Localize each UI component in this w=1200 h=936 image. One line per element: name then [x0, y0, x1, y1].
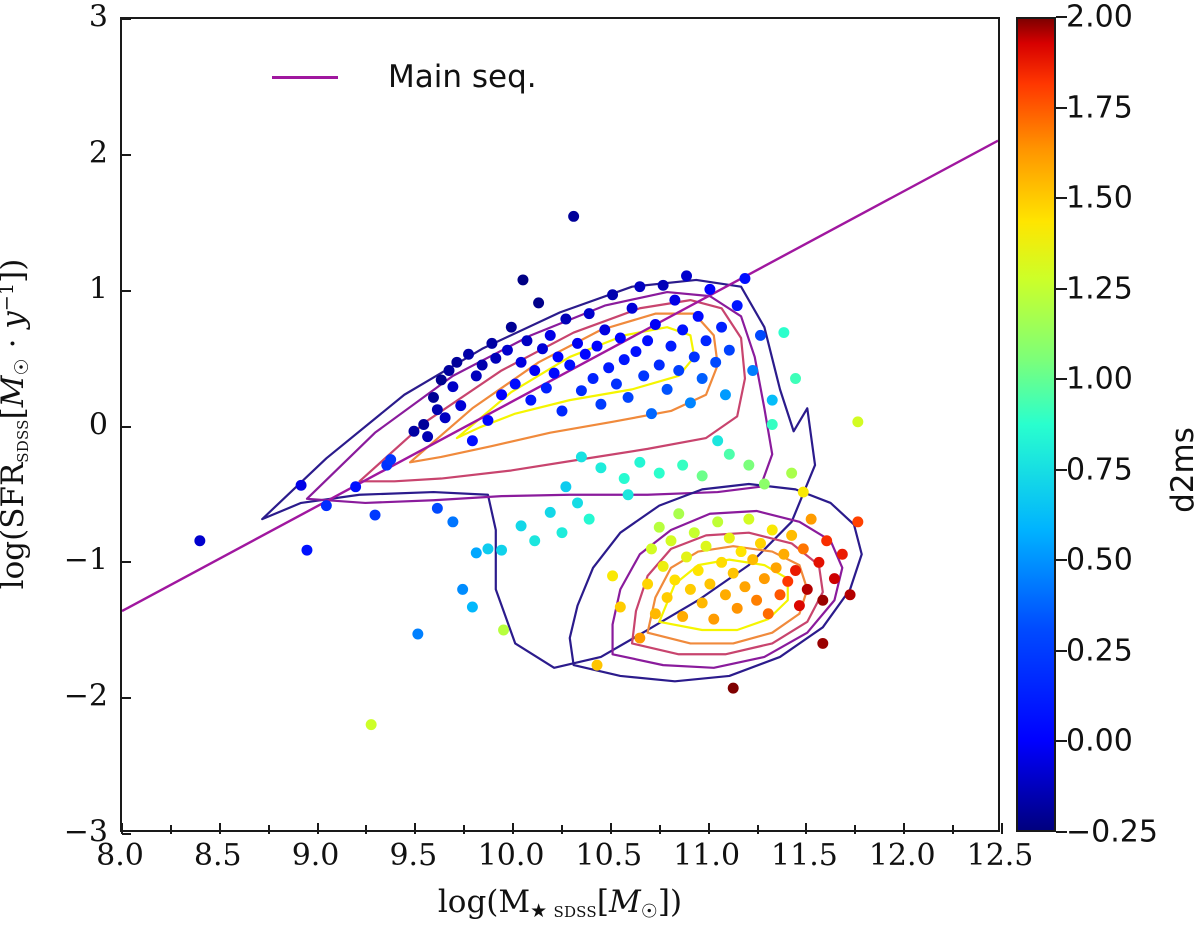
scatter-point — [654, 468, 665, 479]
scatter-point — [627, 303, 638, 314]
scatter-point — [510, 379, 521, 390]
scatter-point — [755, 538, 766, 549]
scatter-point — [654, 360, 665, 371]
scatter-point — [669, 574, 680, 585]
scatter-point — [685, 397, 696, 408]
x-tick — [1001, 823, 1003, 834]
scatter-point — [767, 395, 778, 406]
scatter-point — [490, 353, 501, 364]
scatter-point — [576, 385, 587, 396]
colorbar-container — [1016, 17, 1056, 832]
scatter-point — [301, 545, 312, 556]
scatter-point — [457, 584, 468, 595]
y-axis-label: log(SFRSDSS[M☉ · y−1]) — [0, 259, 33, 590]
y-tick — [122, 154, 131, 156]
x-tick-label: 12.5 — [967, 838, 1034, 873]
scatter-point — [553, 351, 564, 362]
scatter-point — [529, 365, 540, 376]
scatter-point — [549, 368, 560, 379]
scatter-point — [724, 449, 735, 460]
scatter-point — [778, 549, 789, 560]
scatter-point — [296, 480, 307, 491]
scatter-point — [623, 392, 634, 403]
y-tick-label: −2 — [64, 679, 108, 714]
scatter-point — [693, 311, 704, 322]
scatter-point — [506, 322, 517, 333]
scatter-point — [584, 514, 595, 525]
colorbar-label: d2ms — [1165, 427, 1200, 513]
scatter-point — [321, 500, 332, 511]
scatter-point — [685, 584, 696, 595]
scatter-point — [496, 545, 507, 556]
x-tick-label: 11.5 — [771, 838, 838, 873]
scatter-point — [477, 360, 488, 371]
scatter-point — [350, 481, 361, 492]
scatter-point — [747, 554, 758, 565]
scatter-point — [557, 405, 568, 416]
scatter-point — [568, 211, 579, 222]
scatter-point — [471, 547, 482, 558]
scatter-point — [794, 600, 805, 611]
scatter-point — [728, 568, 739, 579]
scatter-point — [743, 514, 754, 525]
scatter-point — [584, 308, 595, 319]
scatter-point — [790, 373, 801, 384]
scatter-point — [662, 384, 673, 395]
scatter-point — [482, 543, 493, 554]
scatter-point — [720, 589, 731, 600]
scatter-point — [619, 473, 630, 484]
x-tick-minor — [170, 825, 172, 834]
legend: Main seq. — [272, 59, 537, 95]
x-tick-label: 11.0 — [673, 838, 740, 873]
scatter-point — [739, 273, 750, 284]
scatter-point — [580, 349, 591, 360]
scatter-point — [798, 543, 809, 554]
scatter-point — [798, 487, 809, 498]
scatter-point — [767, 525, 778, 536]
scatter-point — [525, 395, 536, 406]
scatter-point — [451, 357, 462, 368]
scatter-point — [712, 516, 723, 527]
colorbar-gradient — [1016, 17, 1056, 832]
scatter-point — [697, 597, 708, 608]
scatter-point — [467, 602, 478, 613]
scatter-point — [541, 383, 552, 394]
scatter-point — [444, 365, 455, 376]
y-tick — [122, 18, 131, 20]
x-tick-minor — [268, 825, 270, 834]
x-tick-label: 10.5 — [575, 838, 642, 873]
scatter-point — [658, 561, 669, 572]
scatter-point — [852, 416, 863, 427]
scatter-point — [658, 280, 669, 291]
scatter-point — [642, 579, 653, 590]
scatter-point — [669, 295, 680, 306]
scatter-point — [607, 289, 618, 300]
scatter-point — [521, 335, 532, 346]
y-tick — [122, 561, 131, 563]
scatter-point — [710, 357, 721, 368]
scatter-point — [755, 330, 766, 341]
colorbar-tick-label: 0.50 — [1066, 543, 1133, 578]
scatter-point — [412, 628, 423, 639]
scatter-point — [432, 503, 443, 514]
scatter-point — [502, 345, 513, 356]
scatter-point — [455, 400, 466, 411]
scatter-point — [545, 330, 556, 341]
scatter-point — [666, 535, 677, 546]
scatter-point — [817, 638, 828, 649]
scatter-point — [759, 479, 770, 490]
scatter-point — [642, 335, 653, 346]
scatter-point — [486, 338, 497, 349]
colorbar-tick-label: 0.00 — [1066, 724, 1133, 759]
scatter-point — [615, 602, 626, 613]
x-tick — [317, 823, 319, 834]
scatter-point — [724, 533, 735, 544]
scatter-point — [802, 584, 813, 595]
scatter-point — [545, 507, 556, 518]
scatter-point — [440, 412, 451, 423]
scatter-point — [654, 522, 665, 533]
scatter-point — [422, 431, 433, 442]
scatter-point — [366, 719, 377, 730]
main-sequence-line — [122, 141, 998, 611]
scatter-point — [739, 581, 750, 592]
scatter-point — [498, 625, 509, 636]
scatter-point — [662, 592, 673, 603]
scatter-point — [607, 570, 618, 581]
main-sequence-line-layer — [122, 141, 998, 611]
scatter-point — [701, 335, 712, 346]
scatter-point — [673, 508, 684, 519]
scatter-point — [592, 660, 603, 671]
legend-line-swatch — [272, 76, 338, 79]
scatter-point — [673, 365, 684, 376]
y-tick-label: 0 — [89, 407, 108, 442]
scatter-point — [775, 589, 786, 600]
x-tick-minor — [952, 825, 954, 834]
scatter-point — [537, 343, 548, 354]
scatter-point — [611, 379, 622, 390]
colorbar-tick-label: 1.00 — [1066, 362, 1133, 397]
scatter-point — [716, 322, 727, 333]
scatter-point — [813, 557, 824, 568]
y-tick — [122, 426, 131, 428]
scatter-point — [194, 535, 205, 546]
scatter-point — [845, 589, 856, 600]
x-tick — [903, 823, 905, 834]
scatter-point — [572, 497, 583, 508]
scatter-point — [615, 333, 626, 344]
scatter-point — [697, 373, 708, 384]
plot-canvas — [122, 19, 998, 830]
y-tick — [122, 833, 131, 835]
scatter-point — [564, 360, 575, 371]
scatter-point — [708, 614, 719, 625]
y-tick — [122, 290, 131, 292]
scatter-point — [767, 419, 778, 430]
scatter-point — [603, 362, 614, 373]
x-tick — [610, 823, 612, 834]
scatter-point — [782, 576, 793, 587]
scatter-point — [720, 389, 731, 400]
scatter-point — [447, 381, 458, 392]
scatter-point — [693, 565, 704, 576]
scatter-point — [704, 284, 715, 295]
scatter-point — [529, 535, 540, 546]
x-tick — [414, 823, 416, 834]
scatter-point — [650, 319, 661, 330]
scatter-point — [728, 683, 739, 694]
scatter-point — [619, 354, 630, 365]
contour-layer — [262, 280, 862, 681]
scatter-point — [557, 527, 568, 538]
scatter-point — [817, 595, 828, 606]
y-tick-label: 1 — [89, 271, 108, 306]
scatter-point — [576, 451, 587, 462]
scatter-point — [716, 557, 727, 568]
scatter-point — [634, 633, 645, 644]
colorbar-tick-label: 0.75 — [1066, 452, 1133, 487]
scatter-point — [666, 341, 677, 352]
scatter-point — [681, 551, 692, 562]
colorbar-tick-label: 1.25 — [1066, 271, 1133, 306]
plot-area: Main seq. — [120, 17, 1000, 832]
x-tick-minor — [561, 825, 563, 834]
scatter-point — [592, 341, 603, 352]
scatter-point — [463, 349, 474, 360]
x-tick-minor — [757, 825, 759, 834]
y-tick-label: 2 — [89, 135, 108, 170]
scatter-point — [588, 373, 599, 384]
x-tick-label: 12.0 — [869, 838, 936, 873]
scatter-point — [560, 314, 571, 325]
scatter-point — [837, 549, 848, 560]
y-tick-label: −1 — [64, 543, 108, 578]
scatter-point — [560, 481, 571, 492]
scatter-point — [650, 608, 661, 619]
scatter-point — [763, 608, 774, 619]
scatter-point — [428, 392, 439, 403]
colorbar-tick-label: 1.50 — [1066, 181, 1133, 216]
y-tick-label: 3 — [89, 0, 108, 35]
scatter-point — [595, 399, 606, 410]
scatter-point — [623, 489, 634, 500]
scatter-point — [467, 435, 478, 446]
scatter-point — [533, 297, 544, 308]
scatter-point — [732, 300, 743, 311]
scatter-point — [638, 370, 649, 381]
x-tick-minor — [365, 825, 367, 834]
scatter-point — [471, 370, 482, 381]
scatter-point — [759, 573, 770, 584]
scatter-point — [370, 510, 381, 521]
scatter-point — [732, 603, 743, 614]
scatter-point — [829, 573, 840, 584]
scatter-point — [852, 516, 863, 527]
scatter-point — [743, 460, 754, 471]
scatter-point — [646, 543, 657, 554]
scatter-point — [516, 357, 527, 368]
scatter-point — [516, 520, 527, 531]
scatter-point — [447, 516, 458, 527]
x-tick-label: 10.0 — [478, 838, 545, 873]
x-axis-label: log(M★ SDSS[M☉]) — [438, 884, 682, 922]
scatter-point — [701, 541, 712, 552]
x-tick-minor — [659, 825, 661, 834]
colorbar-tick-label: 2.00 — [1066, 0, 1133, 35]
scatter-point — [771, 562, 782, 573]
scatter-point — [689, 527, 700, 538]
scatter-point — [778, 327, 789, 338]
scatter-point — [806, 514, 817, 525]
scatter-point — [630, 346, 641, 357]
scatter-point — [751, 595, 762, 606]
colorbar-tick-label: 1.75 — [1066, 90, 1133, 125]
scatter-point — [572, 338, 583, 349]
y-tick-label: −3 — [64, 815, 108, 850]
colorbar-tick-label: 0.25 — [1066, 633, 1133, 668]
figure-root: Main seq. 8.08.59.09.510.010.511.011.512… — [0, 0, 1200, 936]
scatter-point — [677, 460, 688, 471]
scatter-point — [790, 565, 801, 576]
scatter-point — [634, 281, 645, 292]
scatter-point — [385, 454, 396, 465]
scatter-point — [677, 611, 688, 622]
scatter-point — [681, 270, 692, 281]
x-tick-minor — [463, 825, 465, 834]
scatter-point — [704, 579, 715, 590]
scatter-point — [595, 462, 606, 473]
scatter-point — [747, 365, 758, 376]
x-tick-label: 9.0 — [292, 838, 340, 873]
scatter-point — [821, 535, 832, 546]
scatter-point — [646, 408, 657, 419]
scatter-point — [418, 419, 429, 430]
scatter-point — [689, 351, 700, 362]
x-tick-minor — [854, 825, 856, 834]
scatter-point — [436, 374, 447, 385]
scatter-point — [712, 435, 723, 446]
legend-label: Main seq. — [388, 59, 537, 95]
scatter-point — [677, 324, 688, 335]
scatter-point — [599, 324, 610, 335]
scatter-point — [697, 470, 708, 481]
scatter-point — [786, 468, 797, 479]
scatter-point — [408, 426, 419, 437]
scatter-point — [786, 530, 797, 541]
x-tick-label: 9.5 — [389, 838, 437, 873]
x-tick — [512, 823, 514, 834]
x-tick — [708, 823, 710, 834]
scatter-point — [517, 274, 528, 285]
x-tick — [219, 823, 221, 834]
scatter-point — [724, 345, 735, 356]
colorbar-tick-label: −0.25 — [1066, 815, 1158, 850]
scatter-point — [432, 404, 443, 415]
x-tick-label: 8.5 — [194, 838, 242, 873]
scatter-point — [736, 546, 747, 557]
scatter-point — [634, 457, 645, 468]
x-tick — [805, 823, 807, 834]
scatter-point — [496, 389, 507, 400]
y-tick — [122, 697, 131, 699]
scatter-point — [482, 415, 493, 426]
